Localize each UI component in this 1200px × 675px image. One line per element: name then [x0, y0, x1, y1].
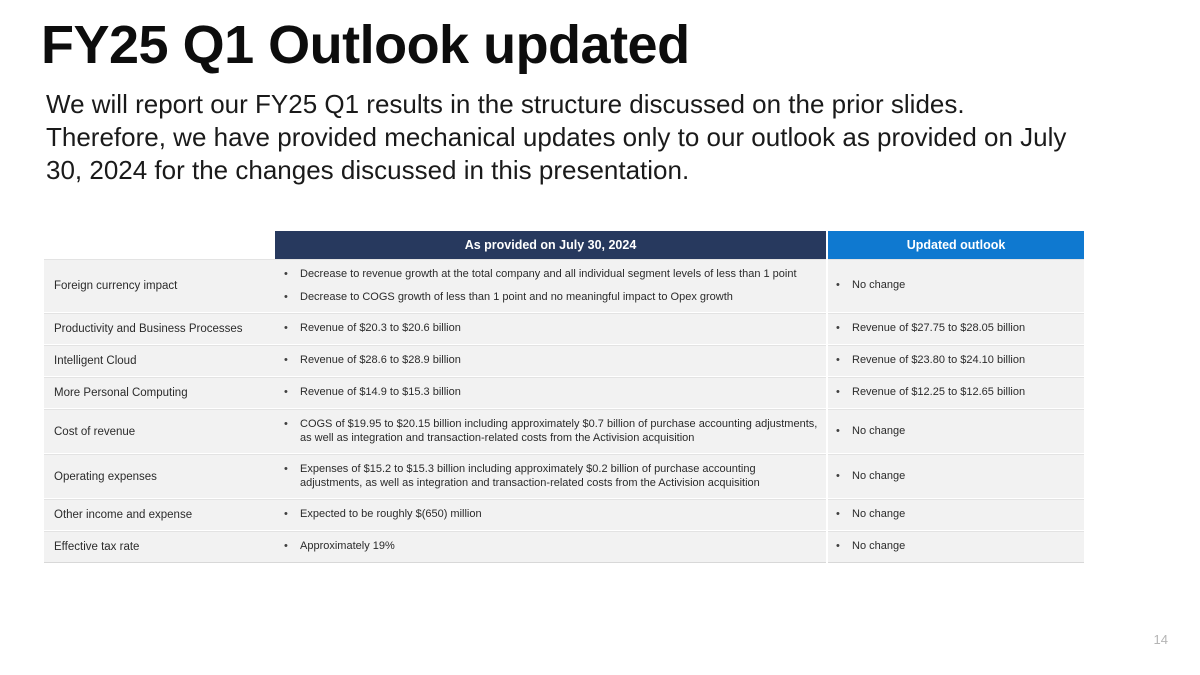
bullet-dot-icon: • [284, 291, 300, 305]
table-row: Foreign currency impact•Decrease to reve… [44, 259, 1084, 313]
bullet-dot-icon: • [836, 279, 852, 293]
bullet-text: No change [852, 425, 1078, 439]
bullet-dot-icon: • [284, 463, 300, 477]
row-label: More Personal Computing [44, 377, 275, 409]
table-row: Cost of revenue•COGS of $19.95 to $20.15… [44, 409, 1084, 454]
bullet-item: •No change [836, 279, 1078, 293]
bullet-text: Decrease to COGS growth of less than 1 p… [300, 291, 820, 305]
row-label: Intelligent Cloud [44, 345, 275, 377]
bullet-text: Revenue of $28.6 to $28.9 billion [300, 354, 820, 368]
table-row: Effective tax rate•Approximately 19%•No … [44, 531, 1084, 563]
bullet-text: No change [852, 279, 1078, 293]
table-header-row: As provided on July 30, 2024 Updated out… [44, 231, 1084, 259]
bullet-text: No change [852, 470, 1078, 484]
bullet-item: •Approximately 19% [284, 540, 820, 554]
row-label: Productivity and Business Processes [44, 313, 275, 345]
table-row: Productivity and Business Processes•Reve… [44, 313, 1084, 345]
bullet-dot-icon: • [284, 354, 300, 368]
row-label: Other income and expense [44, 499, 275, 531]
cell-as-provided: •Decrease to revenue growth at the total… [275, 259, 826, 313]
bullet-text: No change [852, 540, 1078, 554]
cell-updated-outlook: •Revenue of $23.80 to $24.10 billion [828, 345, 1084, 377]
table-row: More Personal Computing•Revenue of $14.9… [44, 377, 1084, 409]
bullet-item: •No change [836, 470, 1078, 484]
cell-updated-outlook: •No change [828, 259, 1084, 313]
table-row: Operating expenses•Expenses of $15.2 to … [44, 454, 1084, 499]
bullet-dot-icon: • [836, 540, 852, 554]
bullet-item: •Expenses of $15.2 to $15.3 billion incl… [284, 463, 820, 490]
bullet-item: •Revenue of $28.6 to $28.9 billion [284, 354, 820, 368]
cell-updated-outlook: •No change [828, 499, 1084, 531]
cell-updated-outlook: •No change [828, 409, 1084, 454]
header-as-provided: As provided on July 30, 2024 [275, 231, 826, 259]
cell-as-provided: •Expected to be roughly $(650) million [275, 499, 826, 531]
table-body: Foreign currency impact•Decrease to reve… [44, 259, 1084, 563]
page-number: 14 [1154, 632, 1168, 647]
bullet-text: Revenue of $20.3 to $20.6 billion [300, 322, 820, 336]
bullet-dot-icon: • [284, 540, 300, 554]
bullet-dot-icon: • [284, 508, 300, 522]
cell-updated-outlook: •No change [828, 454, 1084, 499]
bullet-item: •No change [836, 540, 1078, 554]
bullet-dot-icon: • [836, 354, 852, 368]
bullet-text: Decrease to revenue growth at the total … [300, 268, 820, 282]
table-row: Intelligent Cloud•Revenue of $28.6 to $2… [44, 345, 1084, 377]
bullet-item: •Revenue of $12.25 to $12.65 billion [836, 386, 1078, 400]
bullet-item: •Decrease to revenue growth at the total… [284, 268, 820, 282]
bullet-text: Revenue of $12.25 to $12.65 billion [852, 386, 1078, 400]
row-label: Operating expenses [44, 454, 275, 499]
slide-root: FY25 Q1 Outlook updated We will report o… [0, 0, 1200, 675]
bullet-dot-icon: • [284, 418, 300, 432]
cell-updated-outlook: •Revenue of $12.25 to $12.65 billion [828, 377, 1084, 409]
cell-as-provided: •COGS of $19.95 to $20.15 billion includ… [275, 409, 826, 454]
cell-updated-outlook: •Revenue of $27.75 to $28.05 billion [828, 313, 1084, 345]
bullet-dot-icon: • [836, 508, 852, 522]
row-label: Foreign currency impact [44, 259, 275, 313]
bullet-text: Expenses of $15.2 to $15.3 billion inclu… [300, 463, 820, 490]
bullet-text: COGS of $19.95 to $20.15 billion includi… [300, 418, 820, 445]
bullet-text: Revenue of $14.9 to $15.3 billion [300, 386, 820, 400]
bullet-dot-icon: • [284, 386, 300, 400]
bullet-item: •Revenue of $23.80 to $24.10 billion [836, 354, 1078, 368]
cell-as-provided: •Expenses of $15.2 to $15.3 billion incl… [275, 454, 826, 499]
row-label: Effective tax rate [44, 531, 275, 563]
bullet-item: •Revenue of $14.9 to $15.3 billion [284, 386, 820, 400]
bullet-text: Revenue of $27.75 to $28.05 billion [852, 322, 1078, 336]
bullet-item: •No change [836, 425, 1078, 439]
cell-as-provided: •Approximately 19% [275, 531, 826, 563]
cell-updated-outlook: •No change [828, 531, 1084, 563]
cell-as-provided: •Revenue of $14.9 to $15.3 billion [275, 377, 826, 409]
bullet-dot-icon: • [284, 268, 300, 282]
bullet-dot-icon: • [836, 322, 852, 336]
header-updated-outlook: Updated outlook [828, 231, 1084, 259]
slide-subtitle: We will report our FY25 Q1 results in th… [46, 88, 1086, 187]
bullet-text: Approximately 19% [300, 540, 820, 554]
bullet-item: •Expected to be roughly $(650) million [284, 508, 820, 522]
bullet-item: •Decrease to COGS growth of less than 1 … [284, 291, 820, 305]
bullet-dot-icon: • [836, 425, 852, 439]
bullet-item: •No change [836, 508, 1078, 522]
bullet-item: •Revenue of $27.75 to $28.05 billion [836, 322, 1078, 336]
bullet-item: •COGS of $19.95 to $20.15 billion includ… [284, 418, 820, 445]
outlook-table: As provided on July 30, 2024 Updated out… [44, 231, 1084, 563]
bullet-dot-icon: • [836, 470, 852, 484]
bullet-dot-icon: • [284, 322, 300, 336]
cell-as-provided: •Revenue of $28.6 to $28.9 billion [275, 345, 826, 377]
row-label: Cost of revenue [44, 409, 275, 454]
bullet-dot-icon: • [836, 386, 852, 400]
bullet-item: •Revenue of $20.3 to $20.6 billion [284, 322, 820, 336]
bullet-text: Expected to be roughly $(650) million [300, 508, 820, 522]
page-title: FY25 Q1 Outlook updated [41, 12, 690, 78]
header-label-column [44, 231, 275, 259]
bullet-text: Revenue of $23.80 to $24.10 billion [852, 354, 1078, 368]
bullet-text: No change [852, 508, 1078, 522]
cell-as-provided: •Revenue of $20.3 to $20.6 billion [275, 313, 826, 345]
table-row: Other income and expense•Expected to be … [44, 499, 1084, 531]
